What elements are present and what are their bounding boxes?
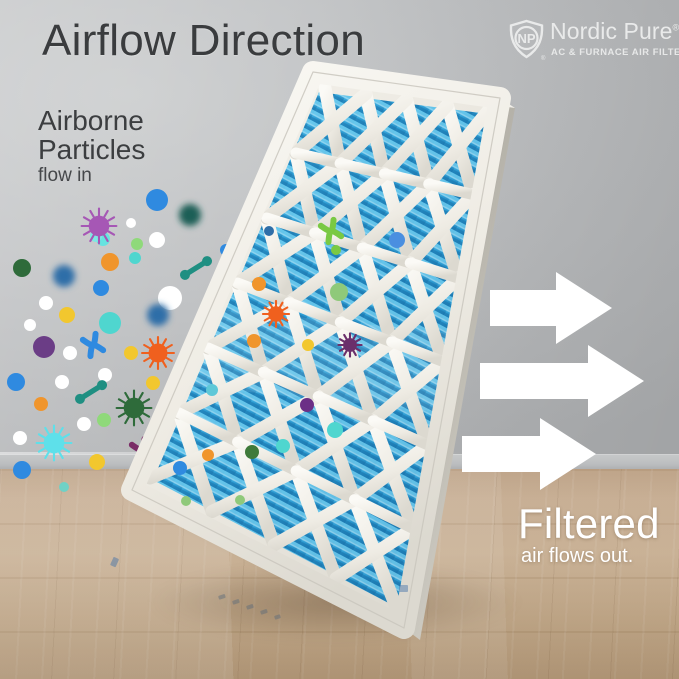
filtered-caption-title: Filtered [518,500,660,548]
airflow-arrow-3 [462,418,596,490]
page-title: Airflow Direction [42,16,365,66]
brand-name-text: Nordic Pure [550,18,673,44]
airflow-arrow-1 [490,272,612,344]
airflow-arrows [0,0,679,679]
airborne-caption-line2: Particles [38,135,145,164]
shield-monogram: NP [517,31,535,46]
brand-name: Nordic Pure® [550,18,679,45]
brand-logo: NP ® Nordic Pure® AC & FURNACE AIR FILTE… [508,20,668,64]
airborne-particles-caption: Airborne Particles [38,106,145,164]
airflow-arrow-2 [480,345,644,417]
brand-tagline: AC & FURNACE AIR FILTERS [551,46,679,57]
airborne-caption-line3: flow in [38,165,92,187]
shield-registered-mark: ® [541,55,546,62]
filtered-caption-subtitle: air flows out. [521,545,633,568]
airborne-caption-line1: Airborne [38,106,145,135]
registered-mark: ® [673,22,679,32]
shield-icon: NP ® [508,19,548,63]
promo-image-canvas: Airflow Direction Airborne Particles flo… [0,0,679,679]
